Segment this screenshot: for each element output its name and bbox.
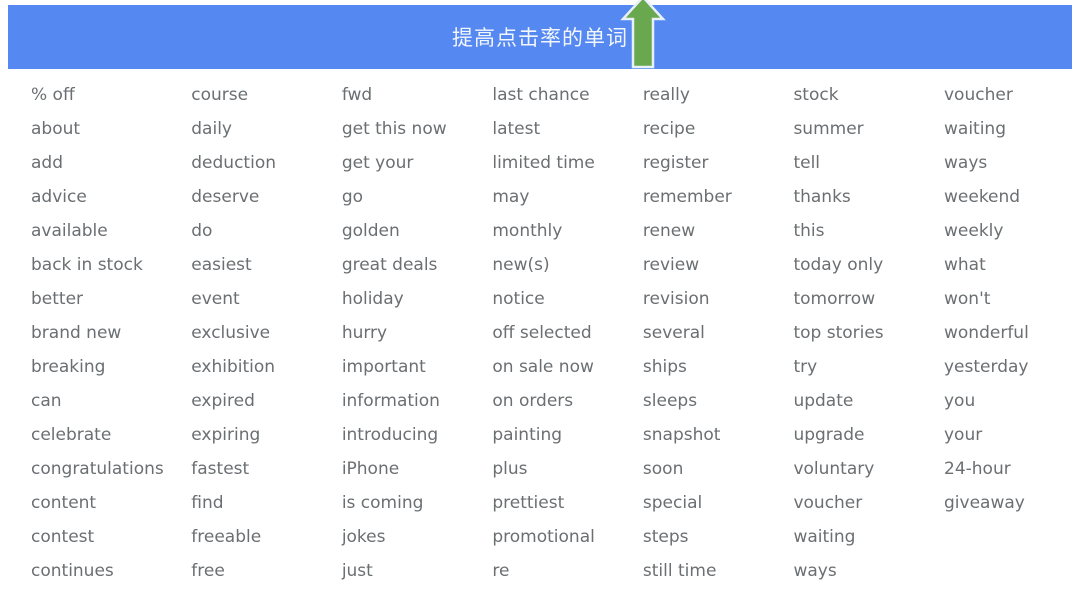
word-item: better xyxy=(31,282,191,316)
word-item: expiring xyxy=(191,418,342,452)
word-item: revision xyxy=(643,282,794,316)
word-item: special xyxy=(643,486,794,520)
word-item: really xyxy=(643,78,794,112)
word-item: event xyxy=(191,282,342,316)
word-column-6: stock summer tell thanks this today only… xyxy=(793,78,944,604)
word-item: recipe xyxy=(643,112,794,146)
word-item: iPhone xyxy=(342,452,493,486)
word-item: ways xyxy=(944,146,1080,180)
word-item: deduction xyxy=(191,146,342,180)
word-item: try xyxy=(793,350,944,384)
word-item: yesterday xyxy=(944,350,1080,384)
word-item: soon xyxy=(643,452,794,486)
word-item: stock xyxy=(793,78,944,112)
word-item: hurry xyxy=(342,316,493,350)
word-item: available xyxy=(31,214,191,248)
word-item: plus xyxy=(492,452,643,486)
word-item: update xyxy=(793,384,944,418)
word-item: add xyxy=(31,146,191,180)
word-item: painting xyxy=(492,418,643,452)
word-item: promotional xyxy=(492,520,643,554)
word-item: just xyxy=(342,554,493,588)
word-item: you xyxy=(944,384,1080,418)
word-item: voluntary xyxy=(793,452,944,486)
word-item: expired xyxy=(191,384,342,418)
word-item: voucher xyxy=(793,486,944,520)
word-item: information xyxy=(342,384,493,418)
word-item: may xyxy=(492,180,643,214)
word-item: can xyxy=(31,384,191,418)
word-item: latest xyxy=(492,112,643,146)
page-title: 提高点击率的单词 xyxy=(452,22,628,52)
header-banner: 提高点击率的单词 xyxy=(8,5,1072,69)
word-item: giveaway xyxy=(944,486,1080,520)
word-item: go xyxy=(342,180,493,214)
word-item: do xyxy=(191,214,342,248)
word-item: waiting xyxy=(793,520,944,554)
word-item: get this now xyxy=(342,112,493,146)
word-item: course xyxy=(191,78,342,112)
word-item: steps xyxy=(643,520,794,554)
word-item: on orders xyxy=(492,384,643,418)
word-item: weekly xyxy=(944,214,1080,248)
word-item: easiest xyxy=(191,248,342,282)
word-column-4: last chance latest limited time may mont… xyxy=(492,78,643,604)
word-item: won't xyxy=(944,282,1080,316)
word-item: fastest xyxy=(191,452,342,486)
word-item: introducing xyxy=(342,418,493,452)
word-item: free xyxy=(191,554,342,588)
word-item: great deals xyxy=(342,248,493,282)
word-item: ways xyxy=(793,554,944,588)
word-item: exhibition xyxy=(191,350,342,384)
word-item: fwd xyxy=(342,78,493,112)
word-item: about xyxy=(31,112,191,146)
word-item: content xyxy=(31,486,191,520)
word-item: deserve xyxy=(191,180,342,214)
word-item: review xyxy=(643,248,794,282)
word-item: ships xyxy=(643,350,794,384)
word-item: is coming xyxy=(342,486,493,520)
word-item: important xyxy=(342,350,493,384)
word-item: congratulations xyxy=(31,452,191,486)
word-item: tell xyxy=(793,146,944,180)
word-item: 24-hour xyxy=(944,452,1080,486)
word-item: daily xyxy=(191,112,342,146)
word-item: today only xyxy=(793,248,944,282)
word-item: sleeps xyxy=(643,384,794,418)
word-item: weekend xyxy=(944,180,1080,214)
word-item: register xyxy=(643,146,794,180)
word-item: snapshot xyxy=(643,418,794,452)
word-item: your xyxy=(944,418,1080,452)
word-item: contest xyxy=(31,520,191,554)
word-item: on sale now xyxy=(492,350,643,384)
word-item: wonderful xyxy=(944,316,1080,350)
word-item: what xyxy=(944,248,1080,282)
word-item: waiting xyxy=(944,112,1080,146)
word-item: summer xyxy=(793,112,944,146)
word-item: advice xyxy=(31,180,191,214)
word-item: monthly xyxy=(492,214,643,248)
word-item: breaking xyxy=(31,350,191,384)
word-item: this xyxy=(793,214,944,248)
word-item: thanks xyxy=(793,180,944,214)
word-item: notice xyxy=(492,282,643,316)
word-item: holiday xyxy=(342,282,493,316)
word-item: prettiest xyxy=(492,486,643,520)
word-item: celebrate xyxy=(31,418,191,452)
word-item: top stories xyxy=(793,316,944,350)
word-item: continues xyxy=(31,554,191,588)
word-item: jokes xyxy=(342,520,493,554)
word-column-5: really recipe register remember renew re… xyxy=(643,78,794,604)
word-item: freeable xyxy=(191,520,342,554)
word-column-3: fwd get this now get your go golden grea… xyxy=(342,78,493,604)
word-list-grid: % off about add advice available back in… xyxy=(0,78,1080,604)
word-item: new(s) xyxy=(492,248,643,282)
word-item: find xyxy=(191,486,342,520)
header-banner-content: 提高点击率的单词 xyxy=(8,5,1072,69)
word-column-1: % off about add advice available back in… xyxy=(0,78,191,604)
word-item: upgrade xyxy=(793,418,944,452)
word-item: remember xyxy=(643,180,794,214)
word-item: last chance xyxy=(492,78,643,112)
word-item: exclusive xyxy=(191,316,342,350)
word-item: voucher xyxy=(944,78,1080,112)
word-item: off selected xyxy=(492,316,643,350)
word-item: still time xyxy=(643,554,794,588)
word-item: get your xyxy=(342,146,493,180)
word-item: back in stock xyxy=(31,248,191,282)
word-column-7: voucher waiting ways weekend weekly what… xyxy=(944,78,1080,604)
word-item: renew xyxy=(643,214,794,248)
word-item: limited time xyxy=(492,146,643,180)
word-item: several xyxy=(643,316,794,350)
word-item: re xyxy=(492,554,643,588)
word-column-2: course daily deduction deserve do easies… xyxy=(191,78,342,604)
word-item: tomorrow xyxy=(793,282,944,316)
word-item: golden xyxy=(342,214,493,248)
word-item: % off xyxy=(31,78,191,112)
word-item: brand new xyxy=(31,316,191,350)
